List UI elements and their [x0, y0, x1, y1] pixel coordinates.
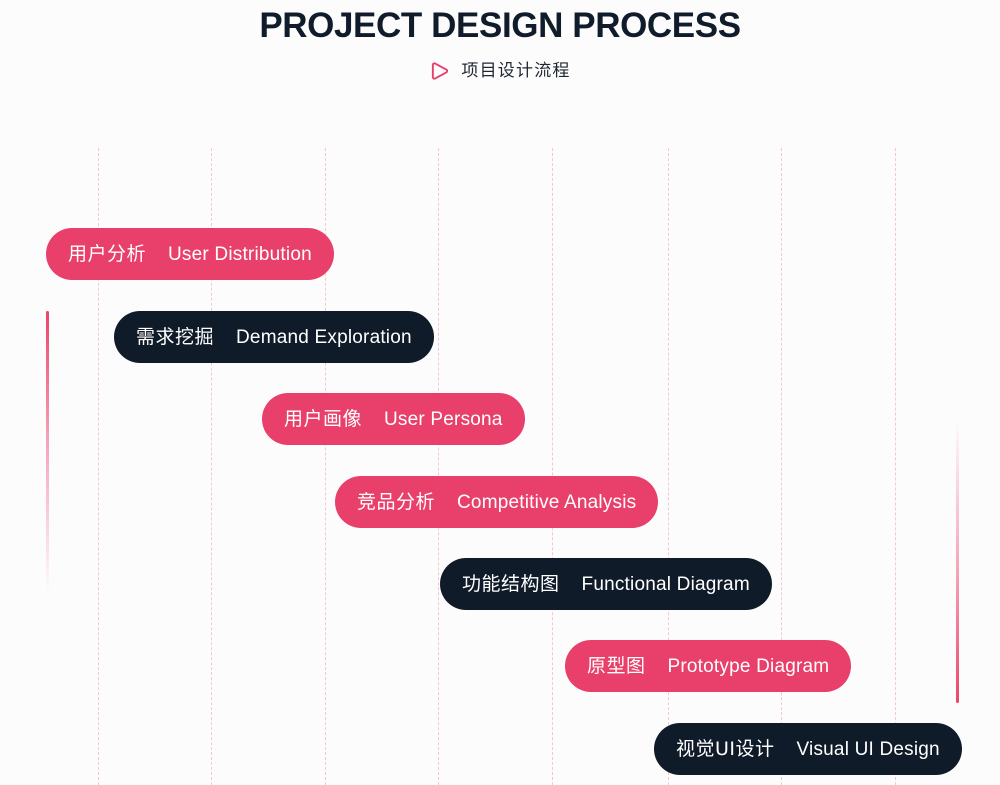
step-label-cn: 视觉UI设计 [676, 740, 775, 759]
step-label-en: Demand Exploration [236, 328, 412, 347]
step-label-en: Competitive Analysis [457, 493, 636, 512]
page-subtitle: 项目设计流程 [461, 60, 570, 82]
play-triangle-outline-icon [429, 60, 451, 82]
process-diagram-canvas: PROJECT DESIGN PROCESS 项目设计流程 用户分析User D… [0, 0, 1000, 785]
step-label-en: Visual UI Design [797, 740, 940, 759]
step-label-en: Prototype Diagram [668, 657, 830, 676]
page-title: PROJECT DESIGN PROCESS [0, 0, 1000, 46]
dashed-guide-5 [552, 148, 553, 785]
process-step-pill-5[interactable]: 功能结构图Functional Diagram [440, 558, 772, 610]
right-gradient-rail [956, 420, 959, 703]
step-label-en: User Distribution [168, 245, 312, 264]
subtitle-row: 项目设计流程 [0, 60, 1000, 82]
process-step-pill-2[interactable]: 需求挖掘Demand Exploration [114, 311, 434, 363]
step-label-cn: 需求挖掘 [136, 328, 214, 347]
step-label-cn: 用户画像 [284, 410, 362, 429]
process-step-pill-4[interactable]: 竞品分析Competitive Analysis [335, 476, 658, 528]
process-step-pill-1[interactable]: 用户分析User Distribution [46, 228, 334, 280]
dashed-guide-4 [438, 148, 439, 785]
dashed-guide-8 [895, 148, 896, 785]
step-label-en: User Persona [384, 410, 503, 429]
step-label-cn: 用户分析 [68, 245, 146, 264]
process-step-pill-3[interactable]: 用户画像User Persona [262, 393, 525, 445]
process-step-pill-7[interactable]: 视觉UI设计Visual UI Design [654, 723, 962, 775]
step-label-en: Functional Diagram [582, 575, 750, 594]
left-gradient-rail [46, 311, 49, 593]
step-label-cn: 功能结构图 [462, 575, 560, 594]
diagram-header: PROJECT DESIGN PROCESS 项目设计流程 [0, 0, 1000, 82]
process-step-pill-6[interactable]: 原型图Prototype Diagram [565, 640, 851, 692]
step-label-cn: 竞品分析 [357, 493, 435, 512]
step-label-cn: 原型图 [587, 657, 646, 676]
